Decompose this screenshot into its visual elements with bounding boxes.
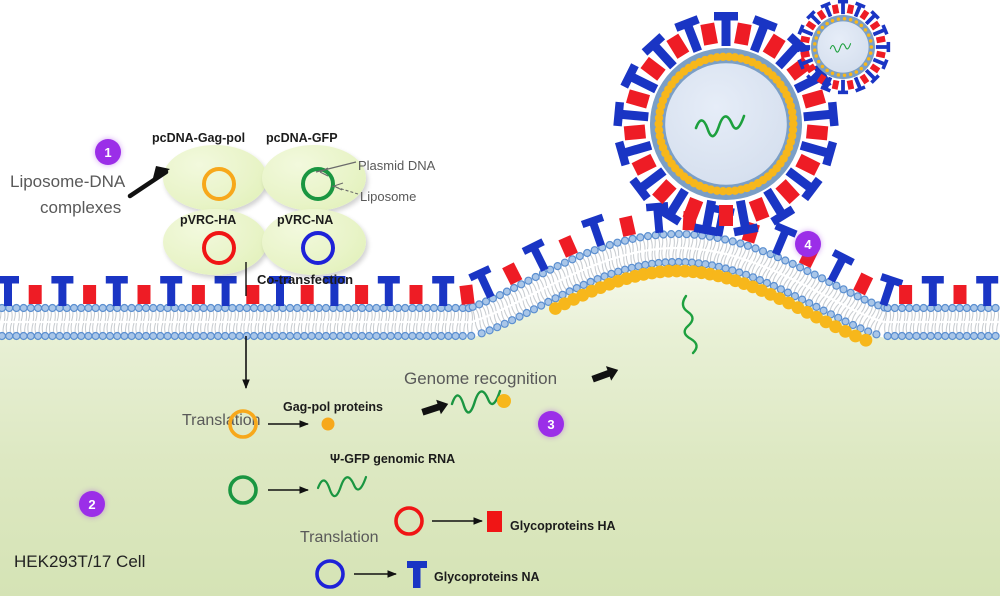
step-badge-2: 2 [79, 491, 105, 517]
figure-canvas: Liposome-DNA complexes pcDNA-Gag-polpcDN… [0, 0, 1000, 596]
step-badge-1: 1 [95, 139, 121, 165]
annotation-layer [0, 0, 1000, 596]
step-badge-3: 3 [538, 411, 564, 437]
step-badge-4: 4 [795, 231, 821, 257]
